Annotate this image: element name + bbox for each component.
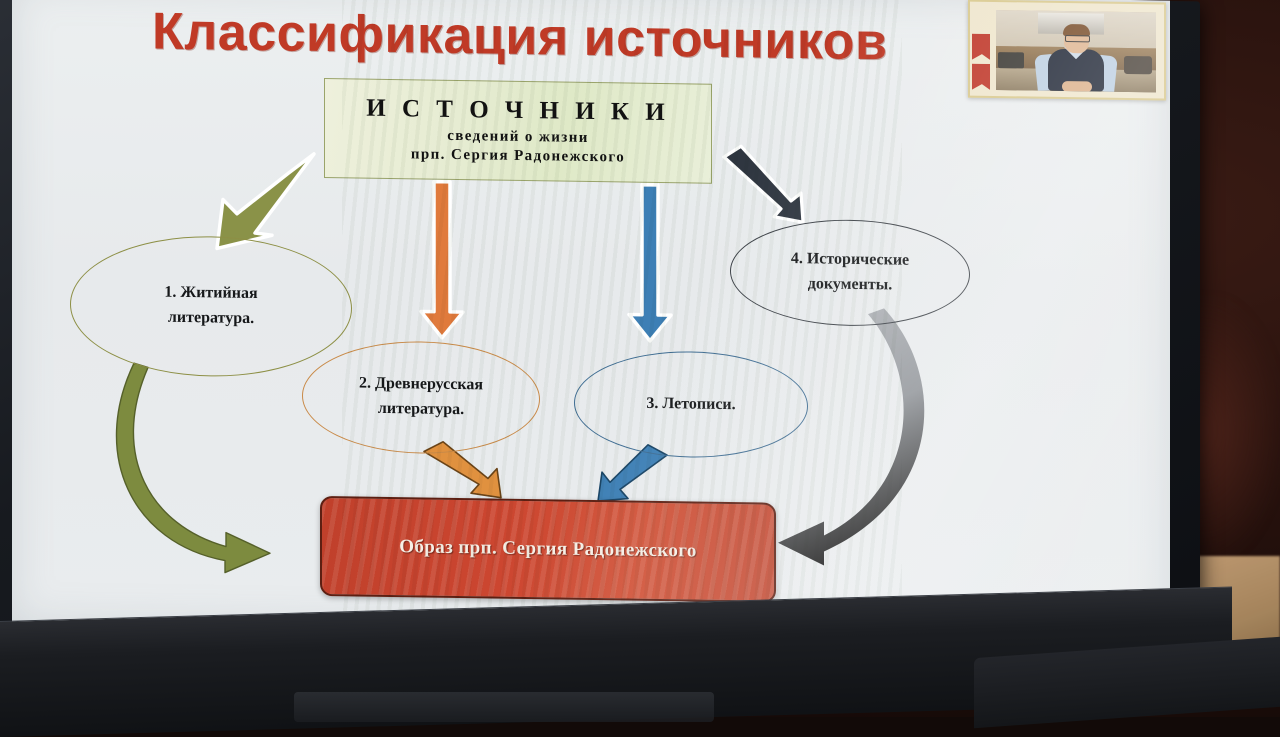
video-participant-hands [1062, 81, 1092, 92]
arrow-source-to-node4 [724, 146, 803, 222]
arrow-source-to-node2 [421, 181, 463, 338]
node-1-label: 1. Житийная литература. [164, 281, 257, 332]
node-2-label: 2. Древнерусская литература. [359, 372, 483, 423]
node-4-label: 4. Исторические документы. [791, 247, 909, 298]
arrow-node1-to-result [116, 363, 270, 573]
video-right-object [1124, 56, 1152, 74]
arrow-source-to-node1 [217, 152, 314, 249]
laptop: Классификация источников И С Т О Ч Н И К… [0, 0, 1200, 692]
red-bookmark-icon-1 [972, 34, 990, 60]
result-box: Образ прп. Сергия Радонежского [320, 496, 776, 603]
arrow-source-to-node3 [629, 185, 671, 342]
participant-video-feed[interactable]: Мужчина в тёмном жилете и голубой рубашк… [996, 10, 1156, 92]
video-call-window[interactable]: Мужчина в тёмном жилете и голубой рубашк… [968, 0, 1166, 101]
trackpad[interactable] [294, 692, 714, 722]
presentation-slide: Классификация источников И С Т О Ч Н И К… [12, 0, 1170, 641]
glasses-icon [1065, 35, 1090, 42]
red-bookmark-icon-2 [972, 64, 990, 90]
node-3-label: 3. Летописи. [646, 391, 735, 417]
laptop-screen: Классификация источников И С Т О Ч Н И К… [12, 0, 1170, 641]
result-box-label: Образ прп. Сергия Радонежского [399, 536, 697, 562]
arrow-node4-to-result [778, 307, 924, 567]
video-left-object [998, 52, 1024, 68]
